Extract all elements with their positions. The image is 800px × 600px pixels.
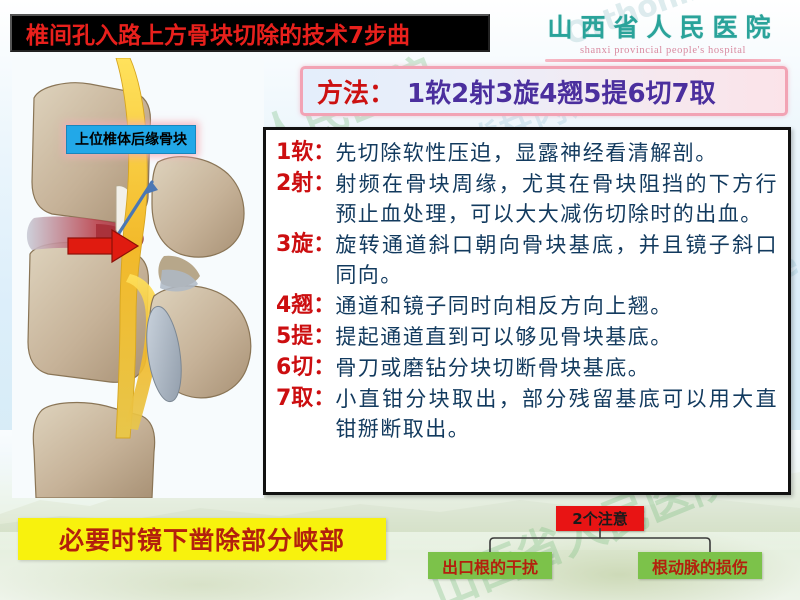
cautions-heading-text: 2个注意 [572, 508, 627, 529]
slide-title: 椎间孔入路上方骨块切除的技术7步曲 [26, 16, 410, 50]
highlight-banner-text: 必要时镜下凿除部分峡部 [59, 521, 345, 557]
logo-divider [545, 59, 781, 62]
step-row: 6切： 骨刀或磨钻分块切断骨块基底。 [276, 353, 778, 383]
slide-title-bar: 椎间孔入路上方骨块切除的技术7步曲 [10, 14, 490, 52]
step-text: 小直钳分块取出，部分残留基底可以用大直钳掰断取出。 [335, 384, 778, 444]
step-key: 4翘： [276, 291, 335, 321]
step-key: 6切： [276, 353, 335, 383]
step-text: 射频在骨块周缘，尤其在骨块阻挡的下方行预止血处理，可以大大减伤切除时的出血。 [335, 169, 778, 229]
steps-detail-box: 1软： 先切除软性压迫，显露神经看清解剖。 2射： 射频在骨块周缘，尤其在骨块阻… [263, 127, 791, 495]
caution-item-text: 根动脉的损伤 [652, 554, 748, 578]
step-row: 4翘： 通道和镜子同时向相反方向上翘。 [276, 291, 778, 321]
step-text: 提起通道直到可以够见骨块基底。 [335, 322, 778, 352]
method-label: 方法： [317, 73, 395, 110]
caution-item-text: 出口根的干扰 [442, 554, 538, 578]
step-row: 7取： 小直钳分块取出，部分残留基底可以用大直钳掰断取出。 [276, 384, 778, 444]
step-key: 3旋： [276, 230, 335, 260]
step-text: 先切除软性压迫，显露神经看清解剖。 [335, 138, 778, 168]
spine-anatomy-svg [12, 58, 264, 498]
hospital-name-en: shanxi provincial people's hospital [538, 45, 788, 56]
step-key: 1软： [276, 138, 335, 168]
step-key: 7取： [276, 384, 335, 414]
presentation-slide: 山西省人民医院 山西省人民医院 山西省人民医院 脊柱内镜 Orthonline … [0, 0, 800, 600]
caution-item-radicular-artery: 根动脉的损伤 [638, 552, 762, 579]
method-mnemonic: 1软2射3旋4翘5提6切7取 [407, 73, 716, 110]
step-row: 1软： 先切除软性压迫，显露神经看清解剖。 [276, 138, 778, 168]
step-text: 通道和镜子同时向相反方向上翘。 [335, 291, 778, 321]
step-row: 3旋： 旋转通道斜口朝向骨块基底，并且镜子斜口同向。 [276, 230, 778, 290]
step-row: 2射： 射频在骨块周缘，尤其在骨块阻挡的下方行预止血处理，可以大大减伤切除时的出… [276, 169, 778, 229]
anatomy-callout-label: 上位椎体后缘骨块 [66, 125, 196, 154]
hospital-name-cn: 山西省人民医院 [538, 8, 788, 44]
method-summary-box: 方法： 1软2射3旋4翘5提6切7取 [300, 66, 788, 116]
caution-item-exiting-root: 出口根的干扰 [428, 552, 552, 579]
step-row: 5提： 提起通道直到可以够见骨块基底。 [276, 322, 778, 352]
step-text: 旋转通道斜口朝向骨块基底，并且镜子斜口同向。 [335, 230, 778, 290]
step-text: 骨刀或磨钻分块切断骨块基底。 [335, 353, 778, 383]
step-key: 5提： [276, 322, 335, 352]
hospital-logo: 山西省人民医院 shanxi provincial people's hospi… [538, 8, 788, 62]
highlight-banner: 必要时镜下凿除部分峡部 [18, 518, 386, 560]
cautions-connector-lines [430, 528, 770, 554]
spine-anatomy-illustration [12, 58, 264, 498]
step-key: 2射： [276, 169, 335, 199]
